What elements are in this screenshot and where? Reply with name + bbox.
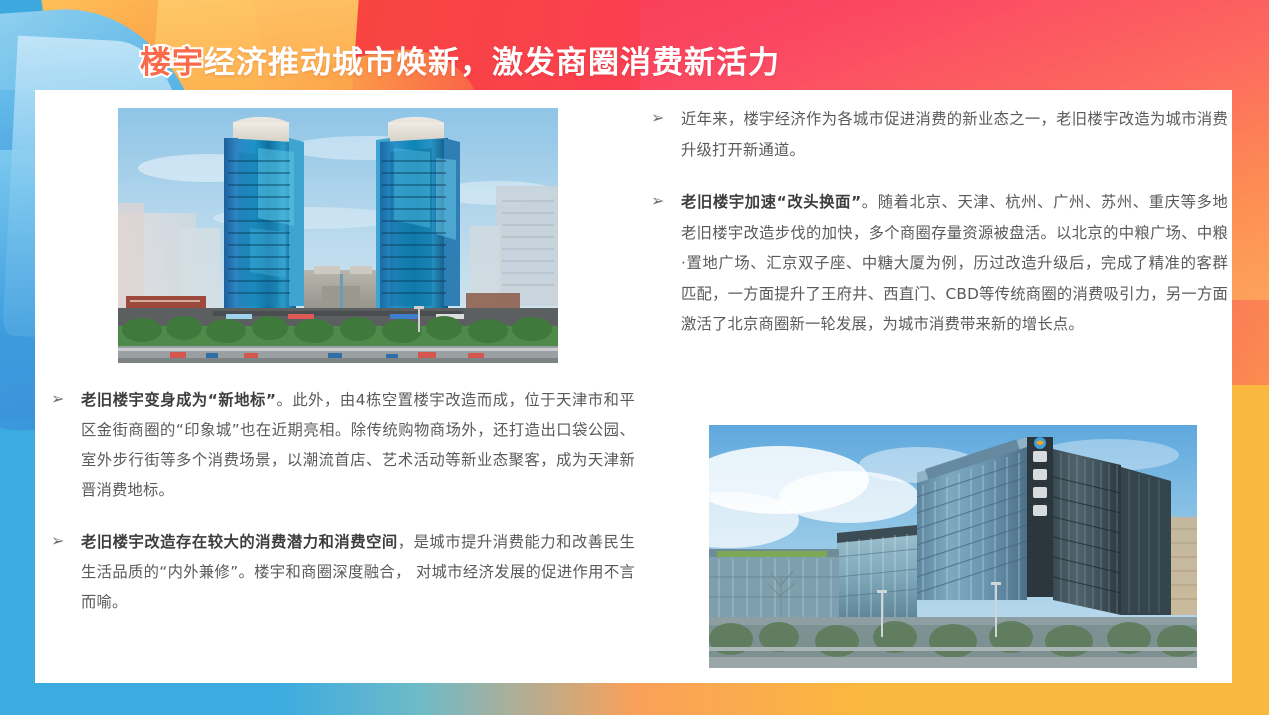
arrow-bullet-icon: ➢: [643, 104, 681, 134]
content-card: ➢ 老旧楼宇变身成为“新地标”。此外，由4栋空置楼宇改造而成，位于天津市和平区金…: [35, 90, 1232, 683]
bullet-item: ➢ 老旧楼宇改造存在较大的消费潜力和消费空间，是城市提升消费能力和改善民生生活品…: [43, 527, 635, 617]
bullet-text: 老旧楼宇改造存在较大的消费潜力和消费空间，是城市提升消费能力和改善民生生活品质的…: [81, 527, 635, 617]
glass-office-complex-photo: [709, 425, 1197, 668]
bullet-body-text: 。随着北京、天津、杭州、广州、苏州、重庆等多地老旧楼宇改造步伐的加快，多个商圈存…: [681, 193, 1228, 333]
bullet-bold-lead: 老旧楼宇改造存在较大的消费潜力和消费空间: [81, 533, 398, 551]
bullet-body-text: 近年来，楼宇经济作为各城市促进消费的新业态之一，老旧楼宇改造为城市消费升级打开新…: [681, 110, 1228, 159]
bullet-item: ➢ 老旧楼宇变身成为“新地标”。此外，由4栋空置楼宇改造而成，位于天津市和平区金…: [43, 385, 635, 505]
left-bullet-list: ➢ 老旧楼宇变身成为“新地标”。此外，由4栋空置楼宇改造而成，位于天津市和平区金…: [43, 385, 635, 639]
bullet-item: ➢ 老旧楼宇加速“改头换面”。随着北京、天津、杭州、广州、苏州、重庆等多地老旧楼…: [643, 187, 1228, 340]
twin-towers-illustration: [118, 108, 558, 363]
bullet-bold-lead: 老旧楼宇变身成为“新地标”: [81, 391, 276, 409]
twin-towers-photo: [118, 108, 558, 363]
bullet-item: ➢ 近年来，楼宇经济作为各城市促进消费的新业态之一，老旧楼宇改造为城市消费升级打…: [643, 104, 1228, 165]
arrow-bullet-icon: ➢: [643, 187, 681, 217]
page-title: 楼宇经济推动城市焕新，激发商圈消费新活力: [140, 37, 780, 82]
right-bullet-list: ➢ 近年来，楼宇经济作为各城市促进消费的新业态之一，老旧楼宇改造为城市消费升级打…: [643, 104, 1228, 362]
page-title-accent: 楼宇: [140, 45, 204, 81]
bullet-text: 老旧楼宇加速“改头换面”。随着北京、天津、杭州、广州、苏州、重庆等多地老旧楼宇改…: [681, 187, 1228, 340]
bullet-bold-lead: 老旧楼宇加速“改头换面”: [681, 193, 861, 211]
bullet-text: 近年来，楼宇经济作为各城市促进消费的新业态之一，老旧楼宇改造为城市消费升级打开新…: [681, 104, 1228, 165]
left-column: ➢ 老旧楼宇变身成为“新地标”。此外，由4栋空置楼宇改造而成，位于天津市和平区金…: [35, 90, 635, 683]
arrow-bullet-icon: ➢: [43, 527, 81, 557]
page-title-rest: 经济推动城市焕新，激发商圈消费新活力: [204, 45, 780, 81]
title-band: 楼宇经济推动城市焕新，激发商圈消费新活力: [0, 0, 1269, 90]
bullet-text: 老旧楼宇变身成为“新地标”。此外，由4栋空置楼宇改造而成，位于天津市和平区金街商…: [81, 385, 635, 505]
arrow-bullet-icon: ➢: [43, 385, 81, 415]
office-complex-illustration: [709, 425, 1197, 668]
slide-root: 楼宇经济推动城市焕新，激发商圈消费新活力: [0, 0, 1269, 715]
